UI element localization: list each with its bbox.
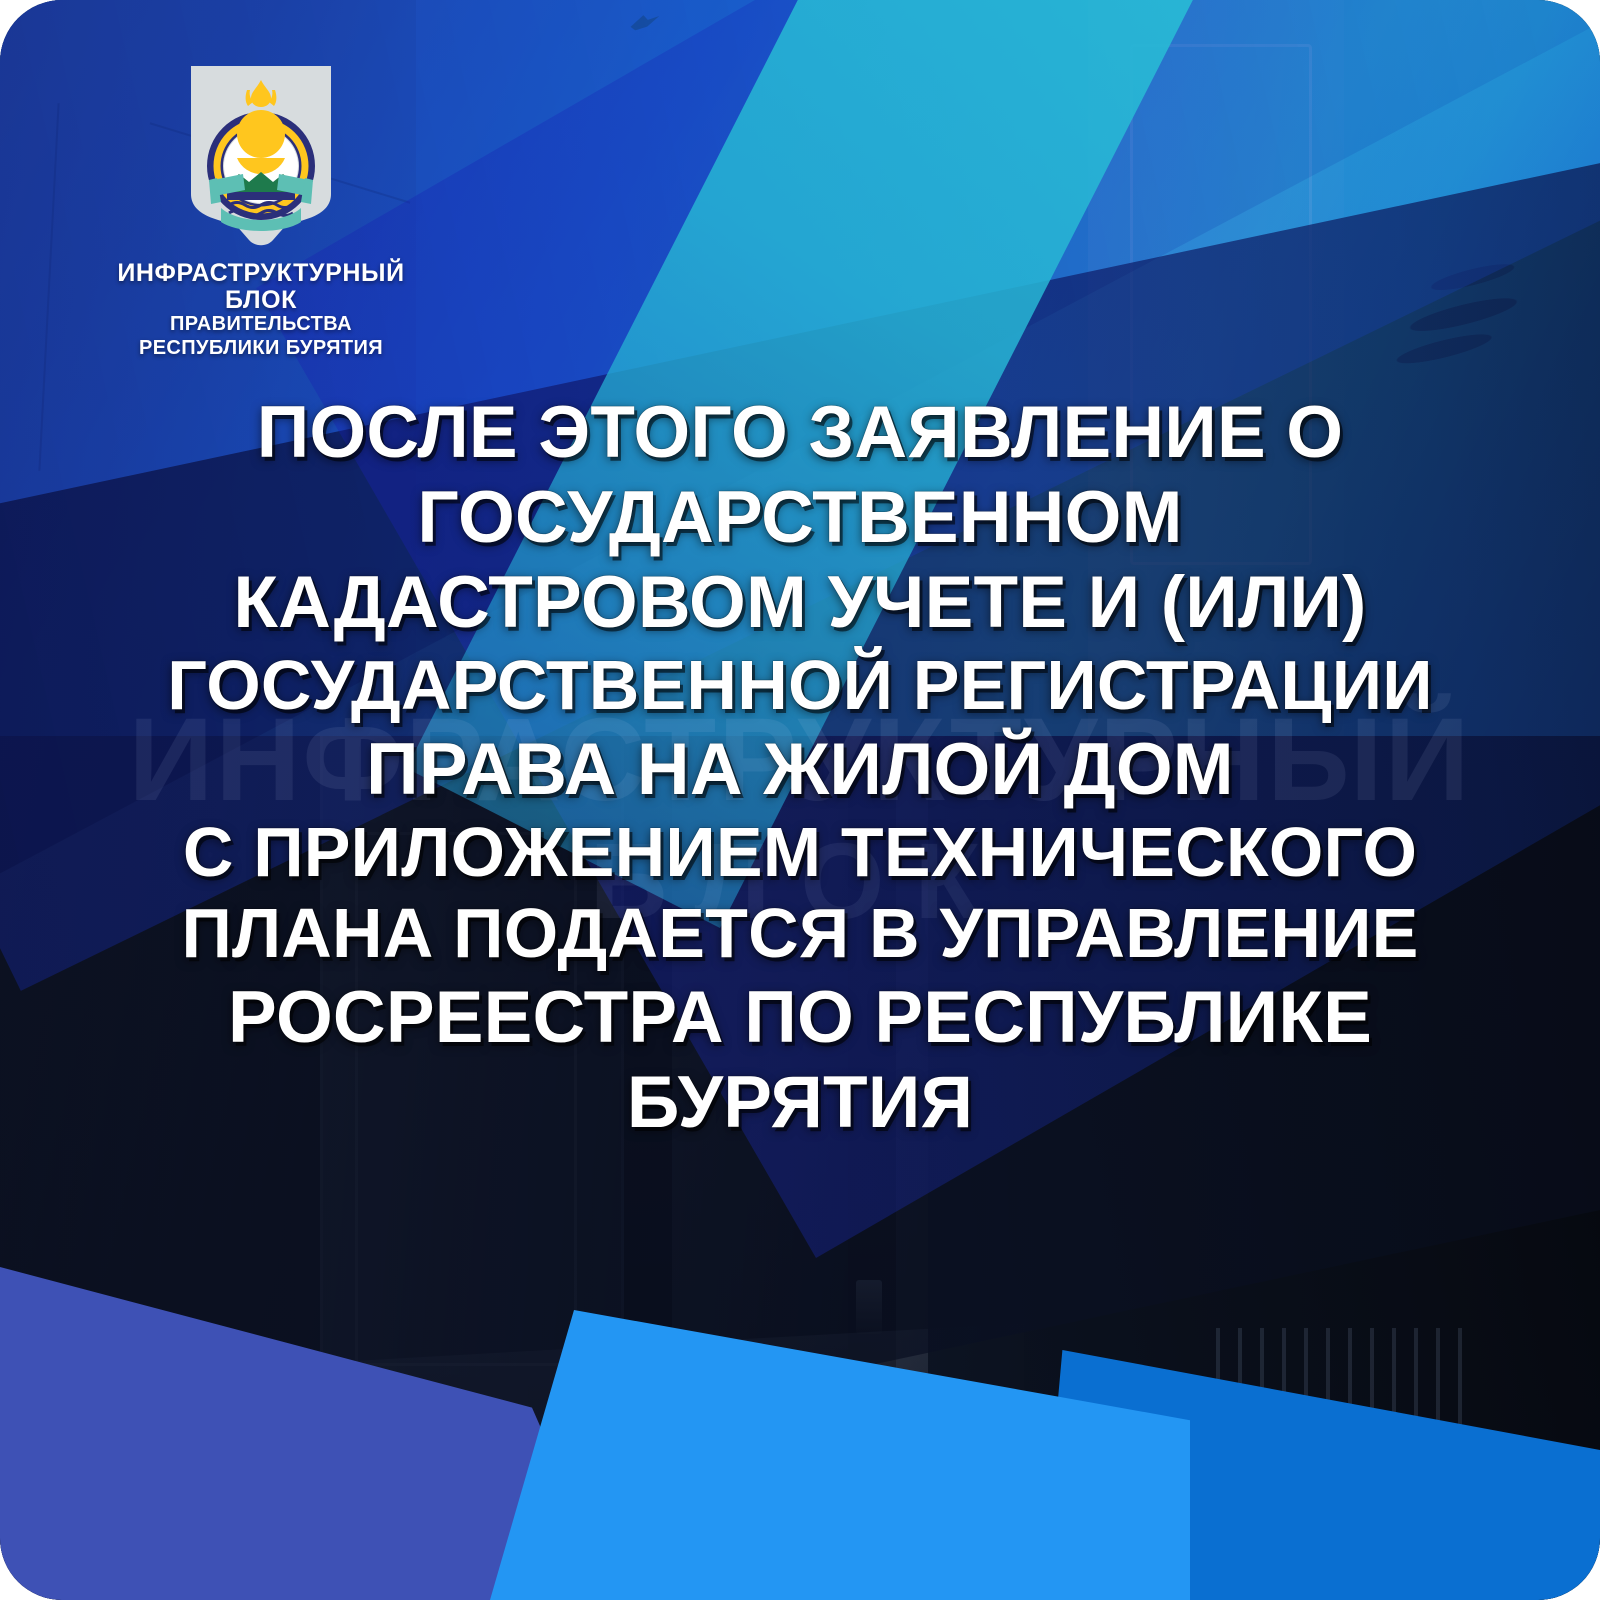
headline-line: КАДАСТРОВОМ УЧЕТЕ И (ИЛИ): [70, 560, 1530, 645]
headline-line: ПРАВА НА ЖИЛОЙ ДОМ: [70, 727, 1530, 812]
headline-line: ПЛАНА ПОДАЕТСЯ В УПРАВЛЕНИЕ: [70, 893, 1530, 975]
organization-logo: ИНФРАСТРУКТУРНЫЙ БЛОК ПРАВИТЕЛЬСТВА РЕСП…: [96, 62, 426, 360]
headline-line: ГОСУДАРСТВЕННОМ: [70, 475, 1530, 560]
logo-title-line-2: ПРАВИТЕЛЬСТВА: [96, 313, 426, 337]
logo-title-line-3: РЕСПУБЛИКИ БУРЯТИЯ: [96, 337, 426, 361]
headline-line: ПОСЛЕ ЭТОГО ЗАЯВЛЕНИЕ О: [70, 390, 1530, 475]
headline-text-block: ПОСЛЕ ЭТОГО ЗАЯВЛЕНИЕ О ГОСУДАРСТВЕННОМ …: [70, 390, 1530, 1145]
headline-line: БУРЯТИЯ: [70, 1060, 1530, 1145]
logo-title-line-1: ИНФРАСТРУКТУРНЫЙ БЛОК: [96, 260, 426, 313]
headline-line: РОСРЕЕСТРА ПО РЕСПУБЛИКЕ: [70, 975, 1530, 1060]
buryatia-coat-of-arms-icon: [187, 62, 335, 248]
poster-canvas: ИНФРАСТРУКТУРНЫЙ БЛОК: [0, 0, 1600, 1600]
headline-line: С ПРИЛОЖЕНИЕМ ТЕХНИЧЕСКОГО: [70, 812, 1530, 894]
headline-line: ГОСУДАРСТВЕННОЙ РЕГИСТРАЦИИ: [70, 645, 1530, 727]
bird-silhouette-icon: [630, 13, 662, 31]
photo-lamp: [856, 1280, 882, 1334]
